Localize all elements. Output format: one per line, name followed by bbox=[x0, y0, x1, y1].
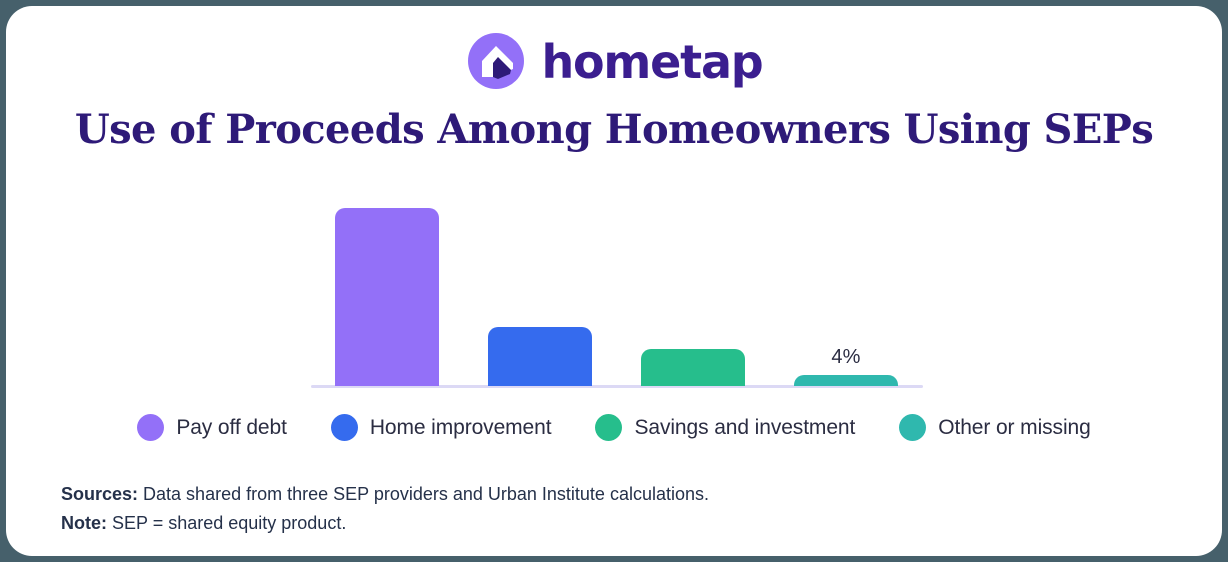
bar-group-savings-and-investment: 13% bbox=[617, 188, 769, 386]
footnote-sources-key: Sources: bbox=[61, 484, 138, 504]
legend-label-0: Pay off debt bbox=[176, 416, 287, 440]
legend-item-savings-and-investment[interactable]: Savings and investment bbox=[595, 414, 855, 441]
footnote-note: Note: SEP = shared equity product. bbox=[61, 509, 1161, 538]
legend-label-2: Savings and investment bbox=[634, 416, 855, 440]
footnote-note-key: Note: bbox=[61, 513, 107, 533]
bar-group-other-or-missing: 4% bbox=[770, 188, 922, 386]
bar-0[interactable] bbox=[335, 208, 439, 386]
legend-item-pay-off-debt[interactable]: Pay off debt bbox=[137, 414, 287, 441]
bar-chart-plot: 63% 21% 13% 4% bbox=[311, 186, 923, 388]
legend-label-3: Other or missing bbox=[938, 416, 1090, 440]
footnote-sources-text: Data shared from three SEP providers and… bbox=[138, 484, 709, 504]
hometap-logo-icon bbox=[465, 30, 527, 92]
bar-group-pay-off-debt: 63% bbox=[311, 188, 463, 386]
legend-label-1: Home improvement bbox=[370, 416, 552, 440]
footnotes: Sources: Data shared from three SEP prov… bbox=[61, 480, 1161, 538]
legend-item-other-or-missing[interactable]: Other or missing bbox=[899, 414, 1090, 441]
bar-value-label-3: 4% bbox=[794, 346, 898, 369]
bar-group-home-improvement: 21% bbox=[464, 188, 616, 386]
page-title: Use of Proceeds Among Homeowners Using S… bbox=[6, 107, 1222, 153]
bar-1[interactable] bbox=[488, 327, 592, 386]
bar-2[interactable] bbox=[641, 349, 745, 386]
legend-item-home-improvement[interactable]: Home improvement bbox=[331, 414, 552, 441]
chart-card: hometap Use of Proceeds Among Homeowners… bbox=[6, 6, 1222, 556]
legend-dot-icon-0 bbox=[137, 414, 164, 441]
brand-wordmark: hometap bbox=[541, 39, 762, 85]
footnote-note-text: SEP = shared equity product. bbox=[107, 513, 346, 533]
legend-dot-icon-1 bbox=[331, 414, 358, 441]
brand-logo: hometap bbox=[6, 30, 1222, 92]
footnote-sources: Sources: Data shared from three SEP prov… bbox=[61, 480, 1161, 509]
chart-legend: Pay off debt Home improvement Savings an… bbox=[6, 414, 1222, 441]
bar-3[interactable] bbox=[794, 375, 898, 386]
legend-dot-icon-2 bbox=[595, 414, 622, 441]
legend-dot-icon-3 bbox=[899, 414, 926, 441]
